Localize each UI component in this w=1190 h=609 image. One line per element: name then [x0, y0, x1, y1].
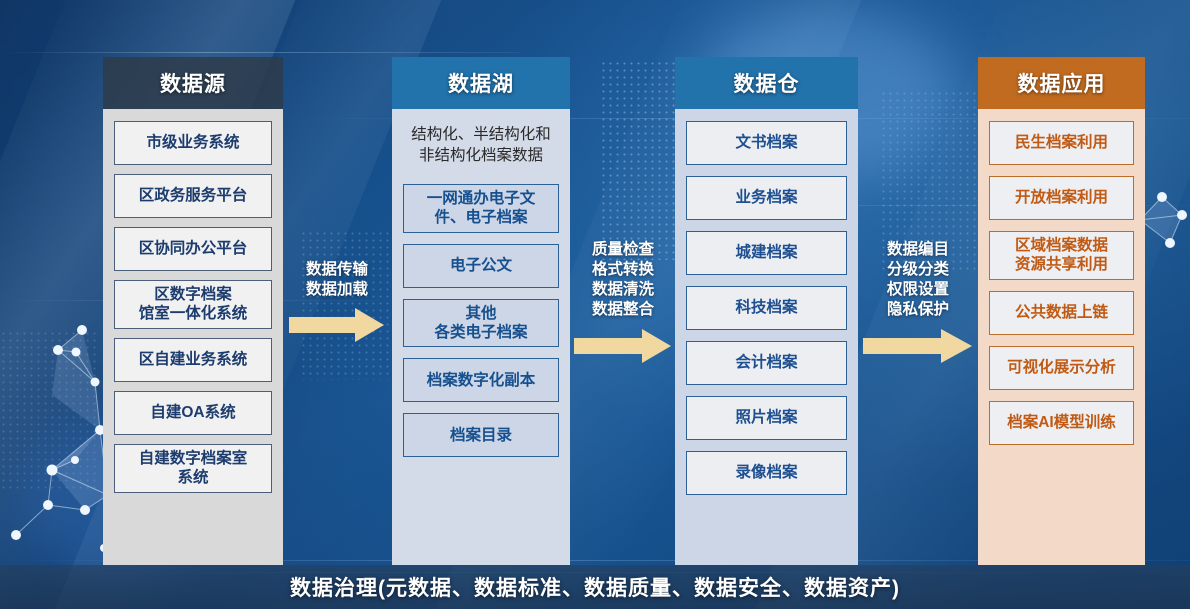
- column-data-lake: 数据湖 结构化、半结构化和 非结构化档案数据 一网通办电子文 件、电子档案 电子…: [392, 57, 570, 565]
- list-item[interactable]: 其他 各类电子档案: [403, 299, 559, 348]
- data-lake-description: 结构化、半结构化和 非结构化档案数据: [411, 121, 551, 173]
- column-data-source: 数据源 市级业务系统 区政务服务平台 区协同办公平台 区数字档案 馆室一体化系统…: [103, 57, 283, 565]
- column-body-data-source: 市级业务系统 区政务服务平台 区协同办公平台 区数字档案 馆室一体化系统 区自建…: [103, 109, 283, 565]
- column-header-data-source: 数据源: [103, 57, 283, 109]
- list-item[interactable]: 民生档案利用: [989, 121, 1134, 165]
- list-item[interactable]: 文书档案: [686, 121, 847, 165]
- column-body-data-warehouse: 文书档案 业务档案 城建档案 科技档案 会计档案 照片档案 录像档案: [675, 109, 858, 565]
- list-item[interactable]: 城建档案: [686, 231, 847, 275]
- arrow-right-icon: [574, 328, 672, 364]
- arrow-right-icon: [289, 307, 385, 343]
- arrow-warehouse-to-application: 数据编目 分级分类 权限设置 隐私保护: [860, 240, 976, 364]
- column-body-data-application: 民生档案利用 开放档案利用 区域档案数据 资源共享利用 公共数据上链 可视化展示…: [978, 109, 1145, 565]
- data-governance-label: 数据治理(元数据、数据标准、数据质量、数据安全、数据资产): [290, 572, 900, 602]
- list-item[interactable]: 区数字档案 馆室一体化系统: [114, 280, 272, 329]
- list-item[interactable]: 电子公文: [403, 244, 559, 288]
- list-item[interactable]: 照片档案: [686, 396, 847, 440]
- list-item[interactable]: 会计档案: [686, 341, 847, 385]
- arrow-label: 质量检查 格式转换 数据清洗 数据整合: [592, 240, 654, 321]
- arrow-lake-to-warehouse: 质量检查 格式转换 数据清洗 数据整合: [572, 240, 674, 364]
- arrow-label: 数据编目 分级分类 权限设置 隐私保护: [887, 240, 949, 321]
- column-data-warehouse: 数据仓 文书档案 业务档案 城建档案 科技档案 会计档案 照片档案 录像档案: [675, 57, 858, 565]
- list-item[interactable]: 档案数字化副本: [403, 358, 559, 402]
- list-item[interactable]: 区域档案数据 资源共享利用: [989, 231, 1134, 280]
- list-item[interactable]: 业务档案: [686, 176, 847, 220]
- column-data-application: 数据应用 民生档案利用 开放档案利用 区域档案数据 资源共享利用 公共数据上链 …: [978, 57, 1145, 565]
- arrow-right-icon: [863, 328, 973, 364]
- list-item[interactable]: 市级业务系统: [114, 121, 272, 165]
- column-header-data-lake: 数据湖: [392, 57, 570, 109]
- column-header-data-warehouse: 数据仓: [675, 57, 858, 109]
- arrow-label: 数据传输 数据加载: [306, 260, 368, 300]
- network-graphic-left: [0, 320, 120, 600]
- list-item[interactable]: 科技档案: [686, 286, 847, 330]
- list-item[interactable]: 可视化展示分析: [989, 346, 1134, 390]
- list-item[interactable]: 自建数字档案室 系统: [114, 444, 272, 493]
- list-item[interactable]: 开放档案利用: [989, 176, 1134, 220]
- list-item[interactable]: 区自建业务系统: [114, 338, 272, 382]
- list-item[interactable]: 一网通办电子文 件、电子档案: [403, 184, 559, 233]
- list-item[interactable]: 档案目录: [403, 413, 559, 457]
- arrow-source-to-lake: 数据传输 数据加载: [287, 260, 387, 343]
- list-item[interactable]: 区协同办公平台: [114, 227, 272, 271]
- list-item[interactable]: 公共数据上链: [989, 291, 1134, 335]
- column-header-data-application: 数据应用: [978, 57, 1145, 109]
- list-item[interactable]: 档案AI模型训练: [989, 401, 1134, 445]
- data-governance-bar: 数据治理(元数据、数据标准、数据质量、数据安全、数据资产): [0, 565, 1190, 609]
- column-body-data-lake: 结构化、半结构化和 非结构化档案数据 一网通办电子文 件、电子档案 电子公文 其…: [392, 109, 570, 565]
- list-item[interactable]: 区政务服务平台: [114, 174, 272, 218]
- list-item[interactable]: 自建OA系统: [114, 391, 272, 435]
- list-item[interactable]: 录像档案: [686, 451, 847, 495]
